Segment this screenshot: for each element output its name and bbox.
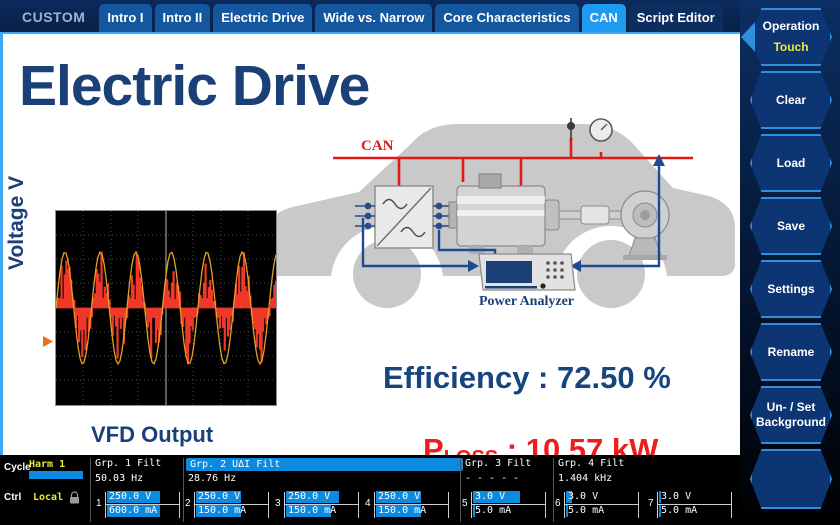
sidebar-button-load-label: Load xyxy=(777,156,806,171)
divider-1 xyxy=(90,458,91,522)
lock-icon[interactable] xyxy=(69,491,80,504)
power-analyzer-device xyxy=(479,254,575,290)
channel-6-number: 6 xyxy=(555,498,561,509)
scope-display[interactable] xyxy=(55,210,277,406)
tab-wide-vs-narrow[interactable]: Wide vs. Narrow xyxy=(315,4,432,32)
inverter-block xyxy=(375,186,433,248)
car-schematic-svg: CAN xyxy=(263,114,740,314)
channel-6-current: 5.0 mA xyxy=(568,505,604,517)
sidebar-button-un-set-background-label: Un- / Set xyxy=(767,400,816,415)
channel-7-current: 5.0 mA xyxy=(661,505,697,517)
channel-1-current-row: 600.0 mA xyxy=(107,505,180,517)
channel-6-current-row: 5.0 mA xyxy=(566,505,639,517)
scope-waveform-svg xyxy=(56,211,276,405)
sidebar-button-un-set-background-label: Background xyxy=(756,415,826,430)
channel-4[interactable]: 4250.0 V150.0 mA xyxy=(365,489,451,521)
sidebar-button-operation[interactable]: OperationTouch xyxy=(750,8,832,66)
channel-7[interactable]: 73.0 V5.0 mA xyxy=(648,489,734,521)
group-1-header[interactable]: Grp. 1 Filt xyxy=(95,458,161,469)
channel-3-voltage: 250.0 V xyxy=(288,491,330,503)
sidebar-button-save-label: Save xyxy=(777,219,805,234)
scope-y-axis-label: Voltage V xyxy=(5,176,29,270)
sidebar-button-save[interactable]: Save xyxy=(750,197,832,255)
sidebar-button-settings[interactable]: Settings xyxy=(750,260,832,318)
group-4-header[interactable]: Grp. 4 Filt xyxy=(558,458,624,469)
app-root: CUSTOM Intro IIntro IIElectric DriveWide… xyxy=(0,0,840,525)
cycle-section: Cycle Harm 1 Ctrl Local xyxy=(0,455,92,525)
channel-5[interactable]: 53.0 V5.0 mA xyxy=(462,489,548,521)
channel-5-voltage: 3.0 V xyxy=(475,491,505,503)
sidebar-button-empty-8[interactable] xyxy=(750,449,832,509)
channel-4-current-row: 150.0 mA xyxy=(376,505,449,517)
cycle-label: Cycle xyxy=(4,462,31,473)
efficiency-value: 72.50 % xyxy=(557,360,671,395)
group-2-header[interactable]: Grp. 2 UΔI Filt xyxy=(186,458,463,471)
sidebar-button-clear[interactable]: Clear xyxy=(750,71,832,129)
sidebar-button-load[interactable]: Load xyxy=(750,134,832,192)
page-title: Electric Drive xyxy=(19,58,369,115)
tab-intro-i[interactable]: Intro I xyxy=(99,4,151,32)
group-3-frequency: - - - - - xyxy=(465,473,519,484)
tab-intro-ii[interactable]: Intro II xyxy=(155,4,211,32)
scope-trigger-marker xyxy=(43,336,55,348)
channel-1[interactable]: 1250.0 V600.0 mA xyxy=(96,489,182,521)
tab-core-characteristics[interactable]: Core Characteristics xyxy=(435,4,578,32)
channel-5-voltage-row: 3.0 V xyxy=(473,491,546,503)
ploss-prefix: P xyxy=(423,432,444,455)
channel-3-number: 3 xyxy=(275,498,281,509)
channel-5-number: 5 xyxy=(462,498,468,509)
channel-4-voltage: 250.0 V xyxy=(378,491,420,503)
tab-bar: CUSTOM Intro IIntro IIElectric DriveWide… xyxy=(0,0,740,32)
ctrl-label: Ctrl xyxy=(4,492,21,503)
channel-2[interactable]: 2250.0 V150.0 mA xyxy=(185,489,271,521)
sidebar-button-settings-label: Settings xyxy=(767,282,814,297)
channel-4-current: 150.0 mA xyxy=(378,505,426,517)
tab-script-editor[interactable]: Script Editor xyxy=(629,4,723,32)
channel-1-current: 600.0 mA xyxy=(109,505,157,517)
group-3-header[interactable]: Grp. 3 Filt xyxy=(465,458,531,469)
sidebar-button-rename[interactable]: Rename xyxy=(750,323,832,381)
sidebar-button-rename-label: Rename xyxy=(768,345,815,360)
channel-3[interactable]: 3250.0 V150.0 mA xyxy=(275,489,361,521)
group-1-frequency: 50.03 Hz xyxy=(95,473,143,484)
power-loss-readout: PLOSS : 10.57 kW xyxy=(423,432,658,455)
main-content-panel: Electric Drive CAN xyxy=(0,32,740,455)
scope-caption: VFD Output xyxy=(91,422,213,448)
electric-motor xyxy=(449,174,559,254)
efficiency-label: Efficiency : xyxy=(383,360,557,395)
sidebar-active-indicator xyxy=(741,22,755,52)
channel-2-current: 150.0 mA xyxy=(198,505,246,517)
channel-3-current: 150.0 mA xyxy=(288,505,336,517)
ctrl-value[interactable]: Local xyxy=(33,492,63,503)
ploss-subscript: LOSS xyxy=(444,447,498,455)
divider-4 xyxy=(553,458,554,522)
group-4-frequency: 1.404 kHz xyxy=(558,473,612,484)
efficiency-readout: Efficiency : 72.50 % xyxy=(383,360,671,396)
sidebar-button-operation-sublabel: Touch xyxy=(773,40,808,55)
channel-7-voltage: 3.0 V xyxy=(661,491,691,503)
electric-drive-diagram: CAN xyxy=(263,114,740,314)
divider-3 xyxy=(460,458,461,522)
custom-label: CUSTOM xyxy=(0,9,99,32)
power-analyzer-label: Power Analyzer xyxy=(479,294,574,309)
can-bus-label: CAN xyxy=(361,138,394,154)
tab-can[interactable]: CAN xyxy=(582,4,626,32)
channel-5-current: 5.0 mA xyxy=(475,505,511,517)
ploss-value: 10.57 kW xyxy=(526,432,659,455)
channel-7-number: 7 xyxy=(648,498,654,509)
divider-2 xyxy=(183,458,184,522)
channel-1-voltage-row: 250.0 V xyxy=(107,491,180,503)
channel-2-number: 2 xyxy=(185,498,191,509)
channel-6[interactable]: 63.0 V5.0 mA xyxy=(555,489,641,521)
sidebar-button-un-set-background[interactable]: Un- / SetBackground xyxy=(750,386,832,444)
channel-2-voltage-row: 250.0 V xyxy=(196,491,269,503)
sidebar-button-clear-label: Clear xyxy=(776,93,806,108)
channel-2-current-row: 150.0 mA xyxy=(196,505,269,517)
sidebar-button-operation-label: Operation xyxy=(763,19,820,34)
status-bar: Cycle Harm 1 Ctrl Local Grp. 1 Filt50.03… xyxy=(0,455,740,525)
channel-2-voltage: 250.0 V xyxy=(198,491,240,503)
channel-4-voltage-row: 250.0 V xyxy=(376,491,449,503)
cycle-value[interactable]: Harm 1 xyxy=(29,459,65,470)
tab-electric-drive[interactable]: Electric Drive xyxy=(213,4,312,32)
channel-6-voltage: 3.0 V xyxy=(568,491,598,503)
ploss-separator: : xyxy=(498,432,526,455)
channel-6-voltage-row: 3.0 V xyxy=(566,491,639,503)
channel-7-voltage-row: 3.0 V xyxy=(659,491,732,503)
channel-7-current-row: 5.0 mA xyxy=(659,505,732,517)
channel-1-number: 1 xyxy=(96,498,102,509)
channel-3-current-row: 150.0 mA xyxy=(286,505,359,517)
scope-canvas[interactable] xyxy=(55,210,277,406)
channel-1-voltage: 250.0 V xyxy=(109,491,151,503)
channel-5-current-row: 5.0 mA xyxy=(473,505,546,517)
side-toolbar: OperationTouchClearLoadSaveSettingsRenam… xyxy=(740,0,840,525)
group-2-frequency: 28.76 Hz xyxy=(188,473,236,484)
channel-4-number: 4 xyxy=(365,498,371,509)
channel-3-voltage-row: 250.0 V xyxy=(286,491,359,503)
cycle-bar xyxy=(29,471,83,479)
